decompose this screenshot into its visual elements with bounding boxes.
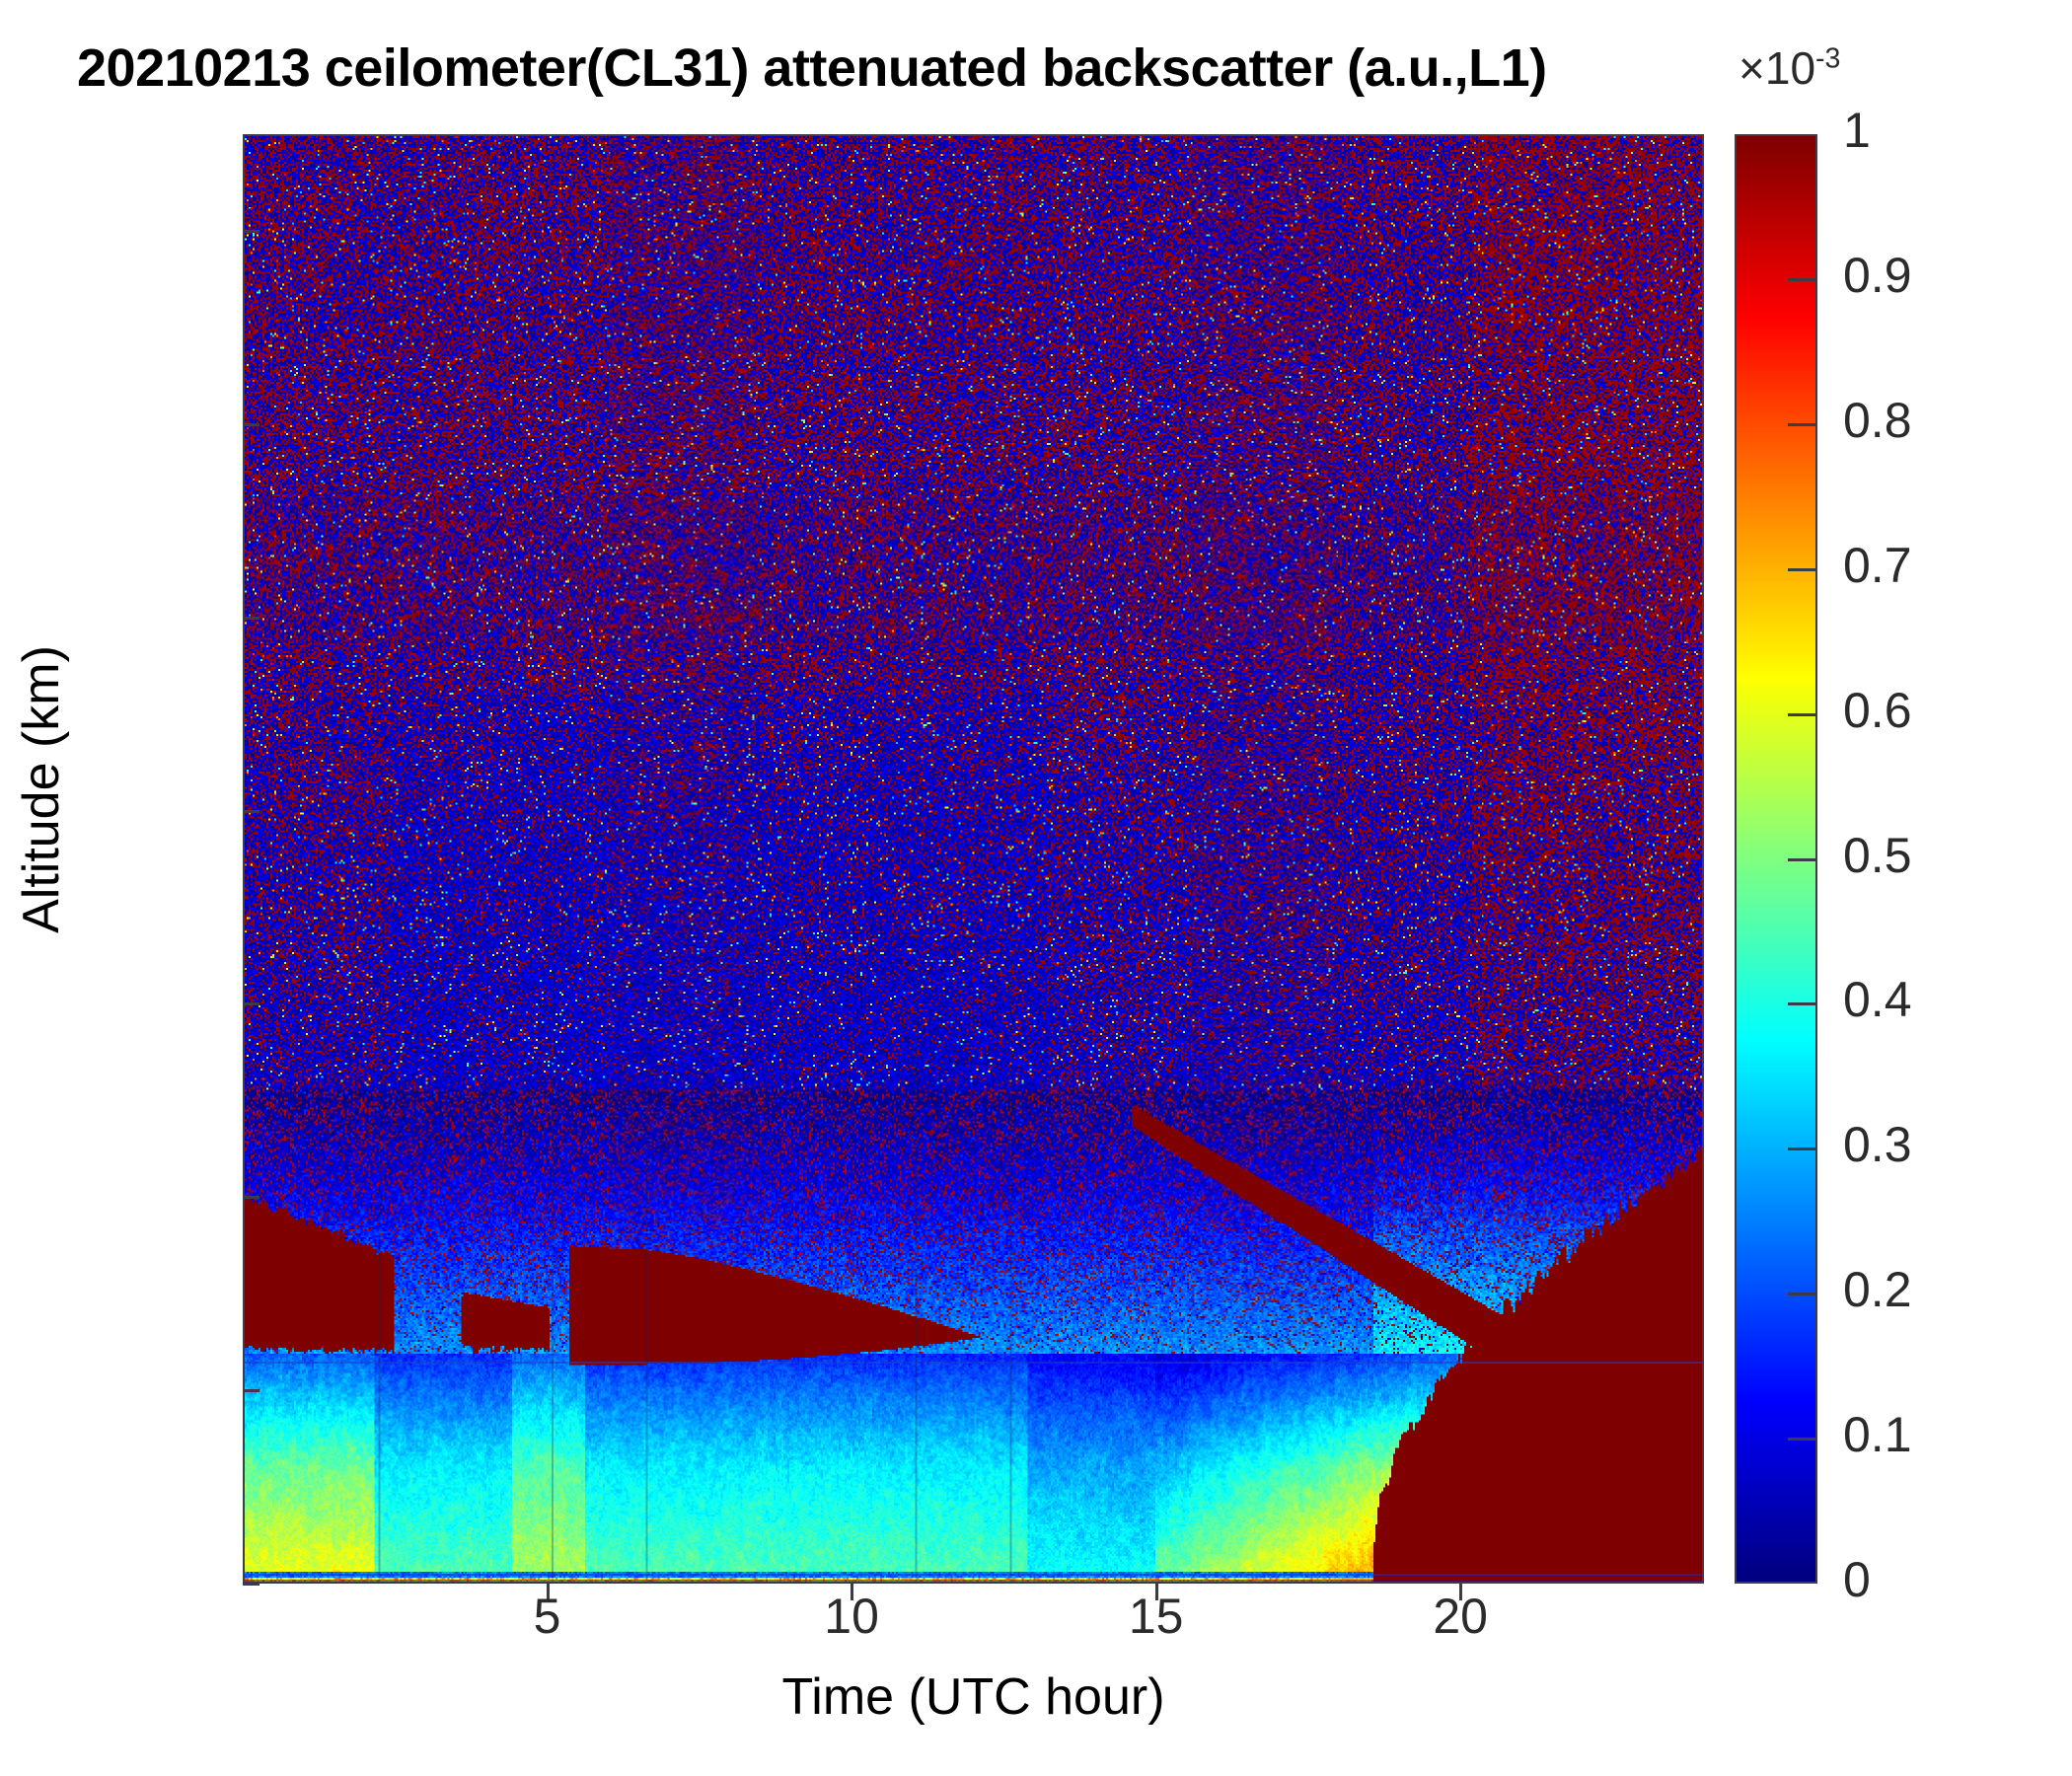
colorbar-tick-mark [1788, 423, 1815, 426]
colorbar-tick-mark [1788, 278, 1815, 281]
colorbar-tick-label: 0.7 [1843, 541, 1912, 590]
heatmap-axes [243, 134, 1704, 1584]
colorbar-tick-mark [1788, 858, 1815, 861]
y-tick-mark [243, 1583, 259, 1586]
colorbar-tick-mark [1788, 1002, 1815, 1005]
colorbar-tick-label: 0.9 [1843, 251, 1912, 300]
colorbar-tick-label: 1 [1843, 106, 1871, 155]
x-tick-label: 10 [763, 1591, 940, 1641]
x-tick-label: 5 [459, 1591, 636, 1641]
y-axis-label: Altitude (km) [12, 513, 71, 1066]
colorbar-tick-label: 0.8 [1843, 396, 1912, 445]
colorbar-tick-label: 0.2 [1843, 1265, 1912, 1314]
y-tick-mark [243, 810, 259, 813]
colorbar-tick-label: 0.4 [1843, 975, 1912, 1024]
y-tick-mark [243, 230, 259, 233]
colorbar-tick-label: 0.3 [1843, 1120, 1912, 1169]
backscatter-heatmap [245, 136, 1702, 1582]
x-axis-label: Time (UTC hour) [243, 1667, 1704, 1727]
y-tick-mark [243, 1196, 259, 1199]
y-tick-mark [243, 423, 259, 426]
colorbar-exponent-power: -3 [1815, 43, 1840, 75]
page-title: 20210213 ceilometer(CL31) attenuated bac… [77, 37, 1547, 99]
y-tick-mark [243, 617, 259, 620]
colorbar-tick-mark [1788, 568, 1815, 571]
colorbar-tick-mark [1788, 1438, 1815, 1441]
colorbar-tick-mark [1788, 1147, 1815, 1150]
colorbar-exponent-base: ×10 [1739, 42, 1815, 94]
x-tick-label: 15 [1068, 1591, 1245, 1641]
colorbar-tick-label: 0.6 [1843, 686, 1912, 735]
colorbar-tick-label: 0 [1843, 1555, 1871, 1604]
y-tick-mark [243, 1002, 259, 1005]
colorbar-tick-label: 0.5 [1843, 831, 1912, 880]
colorbar-exponent-label: ×10-3 [1739, 41, 1840, 95]
figure-root: 20210213 ceilometer(CL31) attenuated bac… [0, 0, 2072, 1776]
colorbar-tick-mark [1788, 1293, 1815, 1295]
colorbar-tick-mark [1788, 713, 1815, 716]
y-tick-mark [243, 1389, 259, 1392]
x-tick-label: 20 [1371, 1591, 1549, 1641]
colorbar-tick-label: 0.1 [1843, 1410, 1912, 1459]
